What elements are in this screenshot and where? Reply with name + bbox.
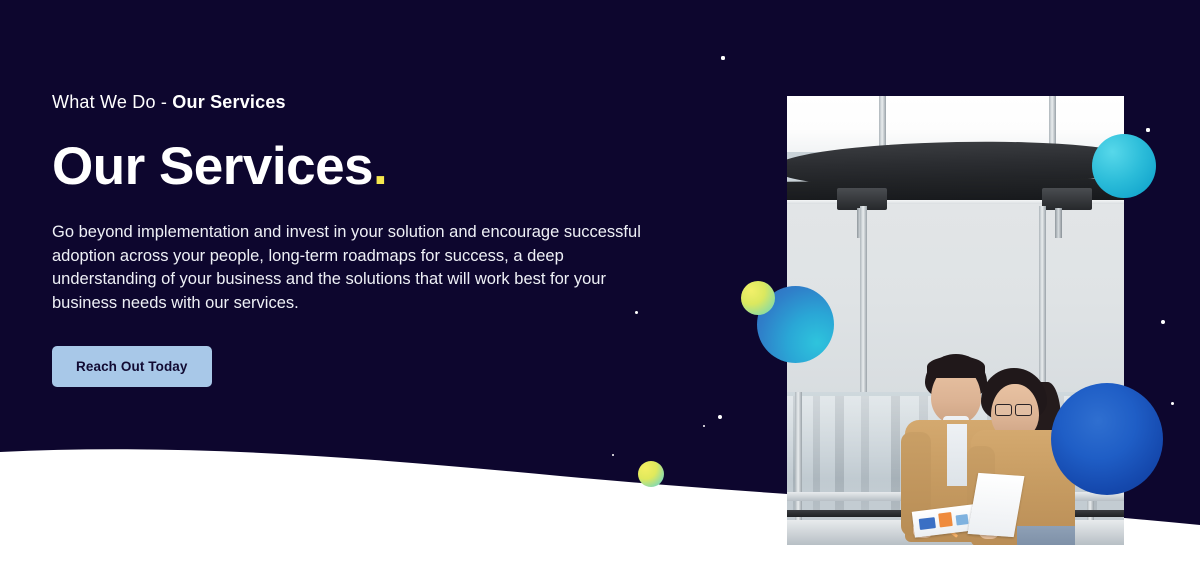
jeans: [1017, 526, 1075, 545]
blind-bracket: [1042, 188, 1092, 210]
hero-content: What We Do - Our Services Our Services. …: [52, 92, 712, 387]
reach-out-today-button[interactable]: Reach Out Today: [52, 346, 212, 387]
report-chart-bar: [919, 517, 936, 530]
blind-bracket-stem: [1055, 208, 1062, 238]
hero-section: What We Do - Our Services Our Services. …: [0, 0, 1200, 579]
report-chart-bar: [956, 514, 969, 525]
glasses-left-lens: [995, 404, 1012, 416]
breadcrumb: What We Do - Our Services: [52, 92, 712, 113]
decor-sphere-lime-bottom-left: [638, 461, 664, 487]
hero-description: Go beyond implementation and invest in y…: [52, 221, 672, 317]
shirt-placket: [947, 424, 967, 486]
page-title: Our Services.: [52, 139, 712, 195]
decor-sphere-royal-bottom-right: [1051, 383, 1163, 495]
breadcrumb-prefix: What We Do -: [52, 92, 172, 112]
decor-sphere-cyan-top-right: [1092, 134, 1156, 198]
decor-sphere-lime-middle: [741, 281, 775, 315]
window-mullion: [860, 206, 867, 396]
glasses-right-lens: [1015, 404, 1032, 416]
report-chart-bar: [938, 512, 953, 527]
page-title-accent-dot: .: [373, 137, 387, 196]
breadcrumb-current: Our Services: [172, 92, 285, 112]
page-title-text: Our Services: [52, 137, 373, 196]
